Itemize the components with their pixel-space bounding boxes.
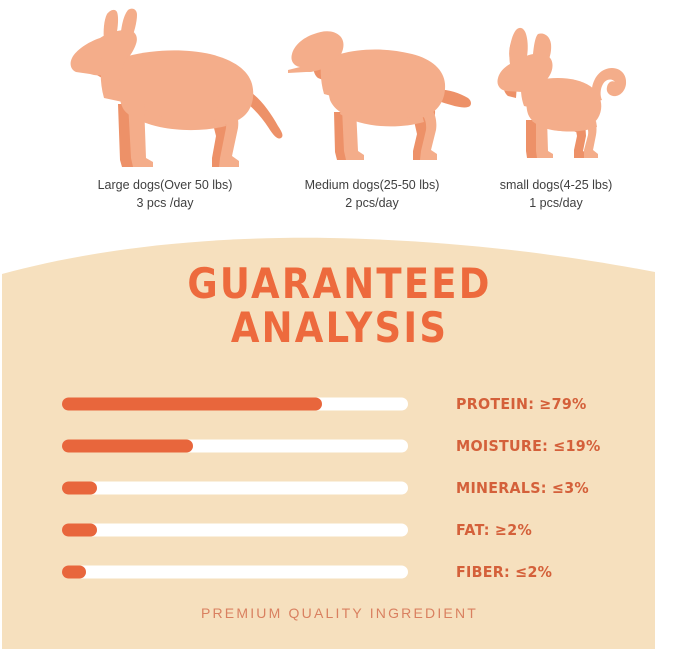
title-line-2: ANALYSIS (41, 306, 639, 350)
nutrient-row-protein: PROTEIN: ≥79% (0, 383, 679, 425)
fat-bar-track (62, 524, 408, 537)
minerals-bar-fill (62, 482, 97, 495)
medium-dog-serving-label: 2 pcs/day (272, 194, 472, 212)
medium-dog-silhouette-icon (272, 8, 472, 168)
nutrient-list: PROTEIN: ≥79% MOISTURE: ≤19% MINERALS: ≤… (0, 383, 679, 593)
title-line-1: GUARANTEED (41, 262, 639, 306)
minerals-label: MINERALS: ≤3% (456, 479, 589, 497)
premium-quality-tagline: PREMIUM QUALITY INGREDIENT (0, 605, 679, 621)
small-dog-caption: small dogs(4-25 lbs) 1 pcs/day (466, 176, 646, 212)
moisture-label: MOISTURE: ≤19% (456, 437, 601, 455)
feeding-column-large: Large dogs(Over 50 lbs) 3 pcs /day (40, 8, 290, 212)
medium-dog-size-label: Medium dogs(25-50 lbs) (272, 176, 472, 194)
nutrient-row-moisture: MOISTURE: ≤19% (0, 425, 679, 467)
fiber-bar-fill (62, 566, 86, 579)
feeding-guide-section: Large dogs(Over 50 lbs) 3 pcs /day (0, 0, 679, 245)
large-dog-caption: Large dogs(Over 50 lbs) 3 pcs /day (40, 176, 290, 212)
small-dog-size-label: small dogs(4-25 lbs) (466, 176, 646, 194)
moisture-bar-track (62, 440, 408, 453)
nutrient-row-fiber: FIBER: ≤2% (0, 551, 679, 593)
small-dog-silhouette-icon (466, 8, 646, 168)
large-dog-size-label: Large dogs(Over 50 lbs) (40, 176, 290, 194)
product-infographic: Large dogs(Over 50 lbs) 3 pcs /day (0, 0, 679, 649)
nutrient-row-fat: FAT: ≥2% (0, 509, 679, 551)
guaranteed-analysis-panel: GUARANTEED ANALYSIS PROTEIN: ≥79% MOISTU… (0, 228, 679, 649)
fiber-bar-track (62, 566, 408, 579)
protein-label: PROTEIN: ≥79% (456, 395, 587, 413)
moisture-bar-fill (62, 440, 193, 453)
feeding-column-medium: Medium dogs(25-50 lbs) 2 pcs/day (272, 8, 472, 212)
page-title: GUARANTEED ANALYSIS (41, 262, 639, 350)
fiber-label: FIBER: ≤2% (456, 563, 552, 581)
nutrient-row-minerals: MINERALS: ≤3% (0, 467, 679, 509)
feeding-column-small: small dogs(4-25 lbs) 1 pcs/day (466, 8, 646, 212)
protein-bar-track (62, 398, 408, 411)
protein-bar-fill (62, 398, 322, 411)
fat-bar-fill (62, 524, 97, 537)
large-dog-serving-label: 3 pcs /day (40, 194, 290, 212)
minerals-bar-track (62, 482, 408, 495)
large-dog-silhouette-icon (40, 8, 290, 168)
fat-label: FAT: ≥2% (456, 521, 532, 539)
small-dog-serving-label: 1 pcs/day (466, 194, 646, 212)
medium-dog-caption: Medium dogs(25-50 lbs) 2 pcs/day (272, 176, 472, 212)
